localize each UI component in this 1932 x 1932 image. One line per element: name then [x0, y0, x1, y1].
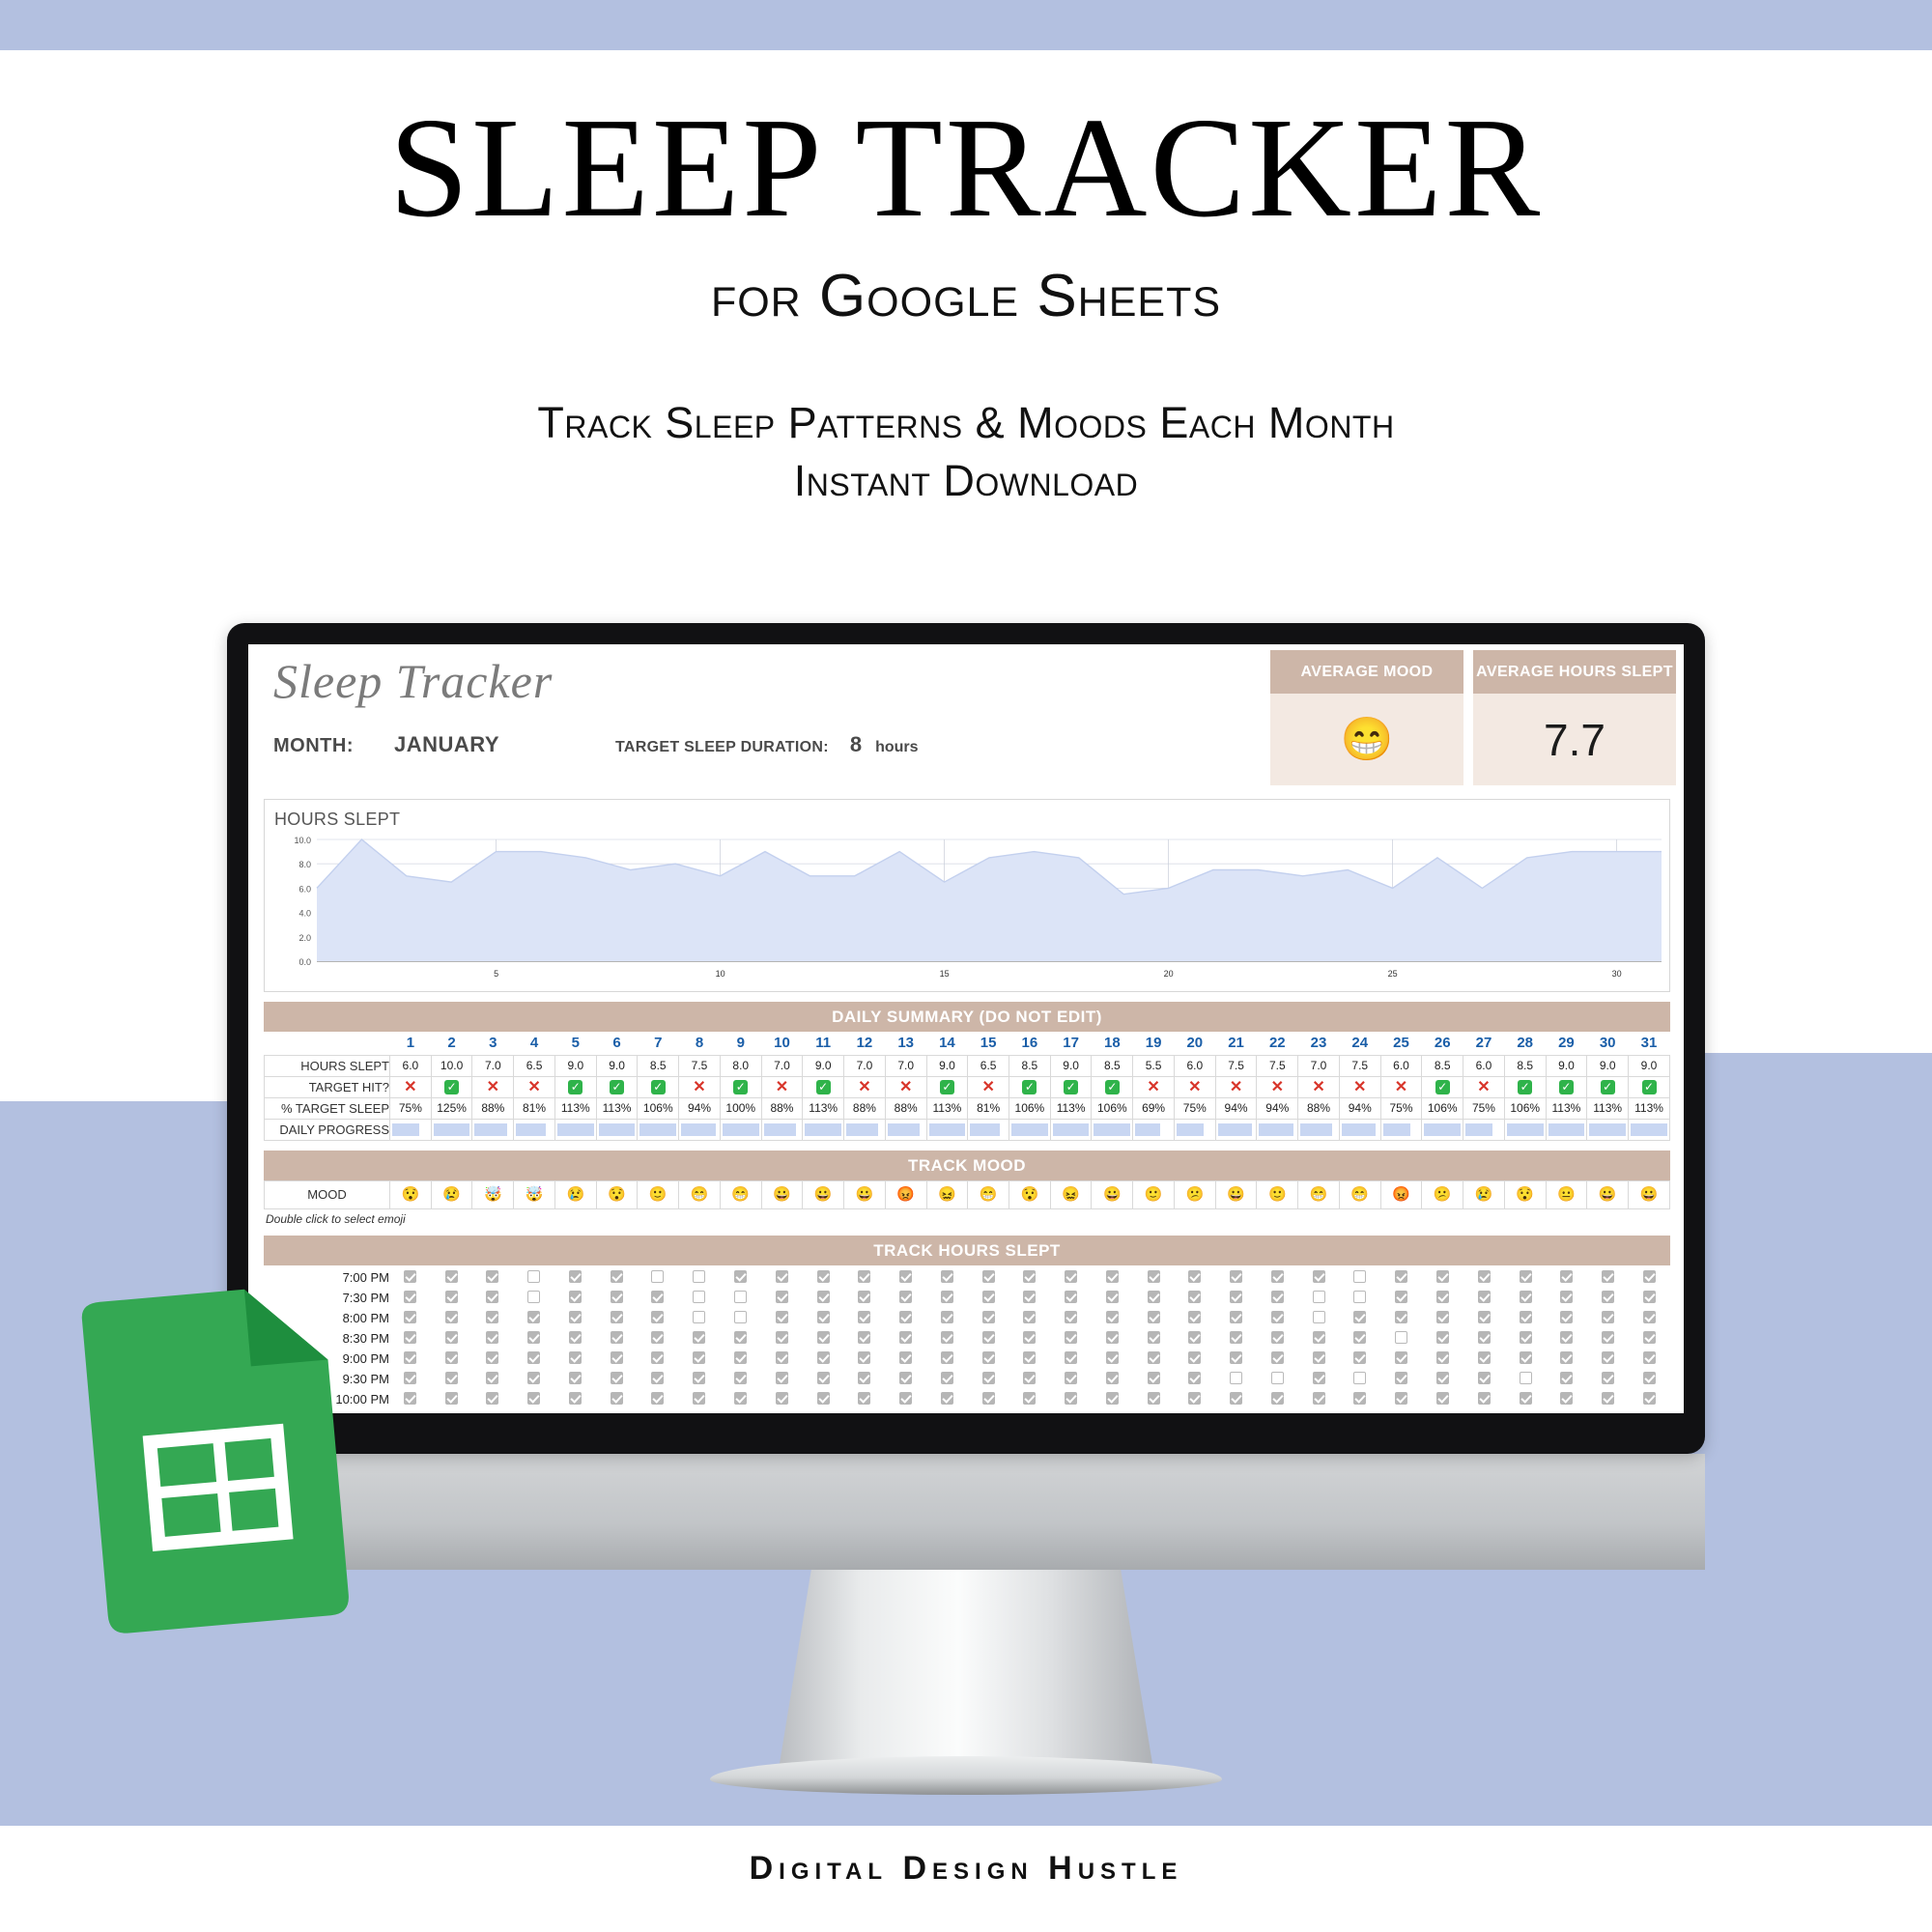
hours-cell[interactable]	[554, 1369, 596, 1389]
hours-cell[interactable]	[968, 1328, 1009, 1349]
hours-cell[interactable]	[1215, 1349, 1257, 1369]
checkbox-checked[interactable]	[1148, 1392, 1160, 1405]
hours-cell[interactable]	[720, 1267, 761, 1288]
mood-cell[interactable]: 🙂	[1257, 1180, 1298, 1208]
checkbox-unchecked[interactable]	[651, 1270, 664, 1283]
hours-cell[interactable]	[1546, 1267, 1587, 1288]
checkbox-checked[interactable]	[1560, 1291, 1573, 1303]
hours-cell[interactable]	[1050, 1328, 1092, 1349]
checkbox-unchecked[interactable]	[1520, 1372, 1532, 1384]
checkbox-checked[interactable]	[1313, 1331, 1325, 1344]
hours-cell[interactable]	[1215, 1267, 1257, 1288]
checkbox-unchecked[interactable]	[527, 1270, 540, 1283]
checkbox-checked[interactable]	[1106, 1311, 1119, 1323]
checkbox-checked[interactable]	[1478, 1392, 1491, 1405]
hours-cell[interactable]	[1133, 1308, 1175, 1328]
checkbox-checked[interactable]	[941, 1372, 953, 1384]
hours-cell[interactable]	[1340, 1369, 1381, 1389]
hours-cell[interactable]	[1340, 1328, 1381, 1349]
hours-cell[interactable]	[1380, 1328, 1422, 1349]
checkbox-checked[interactable]	[611, 1331, 623, 1344]
hours-cell[interactable]	[596, 1369, 638, 1389]
hours-cell[interactable]	[1505, 1267, 1547, 1288]
mood-cell[interactable]: 😯	[390, 1180, 432, 1208]
hours-cell[interactable]	[1380, 1349, 1422, 1369]
hours-cell[interactable]	[1422, 1328, 1463, 1349]
checkbox-checked[interactable]	[1148, 1270, 1160, 1283]
checkbox-checked[interactable]	[486, 1270, 498, 1283]
hours-cell[interactable]	[1587, 1349, 1629, 1369]
hours-cell[interactable]	[720, 1369, 761, 1389]
checkbox-checked[interactable]	[1271, 1351, 1284, 1364]
checkbox-checked[interactable]	[1560, 1331, 1573, 1344]
hours-cell[interactable]	[926, 1328, 968, 1349]
checkbox-checked[interactable]	[486, 1331, 498, 1344]
hours-cell[interactable]	[1175, 1267, 1216, 1288]
hours-cell[interactable]	[885, 1349, 926, 1369]
hours-cell[interactable]	[1587, 1369, 1629, 1389]
hours-cell[interactable]	[926, 1288, 968, 1308]
checkbox-checked[interactable]	[569, 1311, 582, 1323]
checkbox-checked[interactable]	[1560, 1372, 1573, 1384]
hours-cell[interactable]	[472, 1389, 514, 1409]
hours-cell[interactable]	[926, 1267, 968, 1288]
hours-cell[interactable]	[513, 1389, 554, 1409]
hours-cell[interactable]	[554, 1288, 596, 1308]
hours-cell[interactable]	[1422, 1349, 1463, 1369]
hours-cell[interactable]	[803, 1267, 844, 1288]
checkbox-checked[interactable]	[404, 1311, 416, 1323]
checkbox-checked[interactable]	[1560, 1270, 1573, 1283]
checkbox-checked[interactable]	[1602, 1351, 1614, 1364]
hours-cell[interactable]	[389, 1349, 431, 1369]
checkbox-unchecked[interactable]	[1230, 1372, 1242, 1384]
checkbox-checked[interactable]	[1395, 1372, 1407, 1384]
hours-cell[interactable]	[926, 1308, 968, 1328]
checkbox-checked[interactable]	[404, 1372, 416, 1384]
mood-cell[interactable]: 😡	[885, 1180, 926, 1208]
hours-cell[interactable]	[885, 1328, 926, 1349]
mood-cell[interactable]: 🙂	[638, 1180, 679, 1208]
hours-cell[interactable]	[803, 1328, 844, 1349]
checkbox-unchecked[interactable]	[1271, 1372, 1284, 1384]
hours-cell[interactable]	[885, 1369, 926, 1389]
checkbox-checked[interactable]	[776, 1270, 788, 1283]
hours-cell[interactable]	[431, 1267, 472, 1288]
hours-cell[interactable]	[1546, 1308, 1587, 1328]
hours-cell[interactable]	[885, 1389, 926, 1409]
hours-cell[interactable]	[1133, 1389, 1175, 1409]
checkbox-checked[interactable]	[1520, 1331, 1532, 1344]
checkbox-checked[interactable]	[1023, 1291, 1036, 1303]
checkbox-checked[interactable]	[817, 1311, 830, 1323]
hours-cell[interactable]	[1133, 1288, 1175, 1308]
hours-cell[interactable]	[803, 1389, 844, 1409]
checkbox-checked[interactable]	[1106, 1392, 1119, 1405]
hours-cell[interactable]	[1298, 1328, 1340, 1349]
checkbox-checked[interactable]	[1271, 1270, 1284, 1283]
mood-cell[interactable]: 😢	[1463, 1180, 1505, 1208]
checkbox-checked[interactable]	[1395, 1270, 1407, 1283]
checkbox-checked[interactable]	[1106, 1331, 1119, 1344]
checkbox-checked[interactable]	[817, 1291, 830, 1303]
checkbox-checked[interactable]	[651, 1331, 664, 1344]
hours-cell[interactable]	[1133, 1267, 1175, 1288]
checkbox-checked[interactable]	[1230, 1331, 1242, 1344]
checkbox-checked[interactable]	[611, 1351, 623, 1364]
checkbox-checked[interactable]	[1313, 1351, 1325, 1364]
hours-cell[interactable]	[1009, 1288, 1050, 1308]
hours-cell[interactable]	[1175, 1328, 1216, 1349]
checkbox-checked[interactable]	[1353, 1311, 1366, 1323]
hours-cell[interactable]	[1505, 1349, 1547, 1369]
hours-cell[interactable]	[1050, 1369, 1092, 1389]
checkbox-checked[interactable]	[982, 1270, 995, 1283]
checkbox-checked[interactable]	[1065, 1392, 1077, 1405]
checkbox-checked[interactable]	[1230, 1270, 1242, 1283]
hours-cell[interactable]	[761, 1389, 803, 1409]
hours-cell[interactable]	[1257, 1349, 1298, 1369]
hours-cell[interactable]	[389, 1288, 431, 1308]
hours-cell[interactable]	[389, 1267, 431, 1288]
hours-cell[interactable]	[1257, 1328, 1298, 1349]
checkbox-checked[interactable]	[1230, 1311, 1242, 1323]
hours-cell[interactable]	[1050, 1308, 1092, 1328]
checkbox-checked[interactable]	[404, 1291, 416, 1303]
checkbox-checked[interactable]	[1643, 1270, 1656, 1283]
checkbox-checked[interactable]	[693, 1392, 705, 1405]
hours-cell[interactable]	[1215, 1308, 1257, 1328]
hours-cell[interactable]	[513, 1288, 554, 1308]
hours-cell[interactable]	[389, 1328, 431, 1349]
hours-cell[interactable]	[1422, 1267, 1463, 1288]
checkbox-checked[interactable]	[611, 1392, 623, 1405]
hours-cell[interactable]	[1257, 1267, 1298, 1288]
hours-cell[interactable]	[1175, 1288, 1216, 1308]
checkbox-checked[interactable]	[1643, 1291, 1656, 1303]
hours-cell[interactable]	[389, 1369, 431, 1389]
checkbox-checked[interactable]	[982, 1351, 995, 1364]
checkbox-checked[interactable]	[1065, 1291, 1077, 1303]
hours-cell[interactable]	[638, 1308, 679, 1328]
checkbox-checked[interactable]	[1520, 1270, 1532, 1283]
checkbox-checked[interactable]	[941, 1311, 953, 1323]
mood-cell[interactable]: 😀	[803, 1180, 844, 1208]
hours-cell[interactable]	[1298, 1288, 1340, 1308]
hours-cell[interactable]	[1092, 1288, 1133, 1308]
checkbox-checked[interactable]	[1643, 1331, 1656, 1344]
checkbox-checked[interactable]	[982, 1331, 995, 1344]
hours-cell[interactable]	[843, 1288, 885, 1308]
hours-cell[interactable]	[1340, 1389, 1381, 1409]
checkbox-checked[interactable]	[1023, 1270, 1036, 1283]
checkbox-checked[interactable]	[1478, 1372, 1491, 1384]
checkbox-checked[interactable]	[486, 1392, 498, 1405]
checkbox-checked[interactable]	[982, 1372, 995, 1384]
checkbox-checked[interactable]	[1520, 1351, 1532, 1364]
checkbox-unchecked[interactable]	[1313, 1311, 1325, 1323]
checkbox-checked[interactable]	[1478, 1351, 1491, 1364]
hours-cell[interactable]	[843, 1308, 885, 1328]
checkbox-checked[interactable]	[982, 1291, 995, 1303]
hours-cell[interactable]	[638, 1389, 679, 1409]
hours-cell[interactable]	[1298, 1349, 1340, 1369]
hours-cell[interactable]	[968, 1389, 1009, 1409]
hours-cell[interactable]	[513, 1349, 554, 1369]
hours-cell[interactable]	[1629, 1389, 1670, 1409]
hours-cell[interactable]	[513, 1328, 554, 1349]
checkbox-checked[interactable]	[776, 1331, 788, 1344]
hours-cell[interactable]	[513, 1369, 554, 1389]
hours-cell[interactable]	[431, 1389, 472, 1409]
hours-cell[interactable]	[1215, 1369, 1257, 1389]
checkbox-checked[interactable]	[1560, 1311, 1573, 1323]
month-value[interactable]: JANUARY	[394, 732, 499, 757]
checkbox-checked[interactable]	[1188, 1372, 1201, 1384]
hours-cell[interactable]	[678, 1349, 720, 1369]
hours-cell[interactable]	[1546, 1389, 1587, 1409]
checkbox-checked[interactable]	[486, 1291, 498, 1303]
checkbox-checked[interactable]	[1065, 1331, 1077, 1344]
checkbox-checked[interactable]	[1023, 1311, 1036, 1323]
hours-cell[interactable]	[1215, 1389, 1257, 1409]
checkbox-checked[interactable]	[776, 1351, 788, 1364]
hours-cell[interactable]	[472, 1349, 514, 1369]
checkbox-checked[interactable]	[1230, 1351, 1242, 1364]
mood-cell[interactable]: 😁	[679, 1180, 721, 1208]
checkbox-checked[interactable]	[1520, 1392, 1532, 1405]
checkbox-checked[interactable]	[445, 1291, 458, 1303]
checkbox-checked[interactable]	[1643, 1372, 1656, 1384]
mood-cell[interactable]: 😢	[554, 1180, 596, 1208]
hours-cell[interactable]	[926, 1349, 968, 1369]
checkbox-checked[interactable]	[486, 1311, 498, 1323]
hours-cell[interactable]	[1298, 1267, 1340, 1288]
hours-cell[interactable]	[1587, 1389, 1629, 1409]
hours-cell[interactable]	[803, 1349, 844, 1369]
checkbox-checked[interactable]	[817, 1270, 830, 1283]
checkbox-checked[interactable]	[1188, 1392, 1201, 1405]
hours-cell[interactable]	[1092, 1349, 1133, 1369]
hours-cell[interactable]	[1587, 1288, 1629, 1308]
hours-cell[interactable]	[1215, 1288, 1257, 1308]
hours-cell[interactable]	[678, 1267, 720, 1288]
checkbox-checked[interactable]	[1395, 1392, 1407, 1405]
checkbox-checked[interactable]	[651, 1372, 664, 1384]
hours-cell[interactable]	[1009, 1328, 1050, 1349]
checkbox-checked[interactable]	[1602, 1291, 1614, 1303]
hours-cell[interactable]	[968, 1308, 1009, 1328]
checkbox-checked[interactable]	[693, 1351, 705, 1364]
checkbox-checked[interactable]	[569, 1372, 582, 1384]
checkbox-checked[interactable]	[445, 1270, 458, 1283]
hours-cell[interactable]	[1463, 1308, 1505, 1328]
hours-cell[interactable]	[1050, 1389, 1092, 1409]
checkbox-checked[interactable]	[1271, 1311, 1284, 1323]
checkbox-checked[interactable]	[404, 1351, 416, 1364]
checkbox-checked[interactable]	[1313, 1372, 1325, 1384]
mood-cell[interactable]: 😕	[1422, 1180, 1463, 1208]
checkbox-checked[interactable]	[651, 1351, 664, 1364]
hours-cell[interactable]	[1629, 1349, 1670, 1369]
checkbox-checked[interactable]	[1188, 1331, 1201, 1344]
mood-cell[interactable]: 😐	[1546, 1180, 1587, 1208]
hours-cell[interactable]	[968, 1369, 1009, 1389]
hours-cell[interactable]	[678, 1328, 720, 1349]
checkbox-checked[interactable]	[941, 1270, 953, 1283]
checkbox-checked[interactable]	[1395, 1311, 1407, 1323]
checkbox-checked[interactable]	[527, 1311, 540, 1323]
hours-cell[interactable]	[885, 1267, 926, 1288]
checkbox-checked[interactable]	[817, 1372, 830, 1384]
hours-cell[interactable]	[843, 1389, 885, 1409]
hours-cell[interactable]	[1629, 1267, 1670, 1288]
mood-cell[interactable]: 😢	[431, 1180, 472, 1208]
checkbox-checked[interactable]	[1478, 1311, 1491, 1323]
checkbox-checked[interactable]	[776, 1291, 788, 1303]
hours-cell[interactable]	[1546, 1328, 1587, 1349]
hours-cell[interactable]	[1009, 1267, 1050, 1288]
checkbox-checked[interactable]	[858, 1291, 870, 1303]
hours-cell[interactable]	[720, 1328, 761, 1349]
checkbox-checked[interactable]	[1478, 1270, 1491, 1283]
hours-cell[interactable]	[389, 1389, 431, 1409]
target-sleep-value[interactable]: 8	[850, 732, 862, 757]
checkbox-checked[interactable]	[611, 1311, 623, 1323]
mood-cell[interactable]: 🤯	[472, 1180, 514, 1208]
checkbox-checked[interactable]	[527, 1331, 540, 1344]
checkbox-checked[interactable]	[1271, 1331, 1284, 1344]
mood-cell[interactable]: 😁	[968, 1180, 1009, 1208]
mood-cell[interactable]: 🤯	[514, 1180, 555, 1208]
checkbox-checked[interactable]	[651, 1392, 664, 1405]
mood-cell[interactable]: 😖	[926, 1180, 968, 1208]
hours-cell[interactable]	[431, 1288, 472, 1308]
checkbox-checked[interactable]	[1478, 1291, 1491, 1303]
checkbox-checked[interactable]	[445, 1392, 458, 1405]
hours-cell[interactable]	[554, 1328, 596, 1349]
mood-cell[interactable]: 😀	[1629, 1180, 1670, 1208]
hours-cell[interactable]	[720, 1308, 761, 1328]
checkbox-checked[interactable]	[1065, 1372, 1077, 1384]
checkbox-checked[interactable]	[899, 1351, 912, 1364]
mood-cell[interactable]: 😀	[1092, 1180, 1133, 1208]
checkbox-checked[interactable]	[693, 1372, 705, 1384]
hours-cell[interactable]	[1380, 1288, 1422, 1308]
hours-cell[interactable]	[1009, 1308, 1050, 1328]
checkbox-checked[interactable]	[569, 1331, 582, 1344]
checkbox-checked[interactable]	[858, 1311, 870, 1323]
hours-cell[interactable]	[761, 1288, 803, 1308]
checkbox-checked[interactable]	[899, 1291, 912, 1303]
hours-cell[interactable]	[1215, 1328, 1257, 1349]
hours-cell[interactable]	[678, 1288, 720, 1308]
checkbox-unchecked[interactable]	[527, 1291, 540, 1303]
checkbox-checked[interactable]	[982, 1392, 995, 1405]
checkbox-checked[interactable]	[1602, 1331, 1614, 1344]
checkbox-checked[interactable]	[1643, 1392, 1656, 1405]
hours-cell[interactable]	[472, 1308, 514, 1328]
hours-cell[interactable]	[1463, 1328, 1505, 1349]
hours-cell[interactable]	[1546, 1369, 1587, 1389]
checkbox-checked[interactable]	[569, 1270, 582, 1283]
checkbox-checked[interactable]	[569, 1291, 582, 1303]
hours-cell[interactable]	[1422, 1369, 1463, 1389]
checkbox-checked[interactable]	[1023, 1392, 1036, 1405]
checkbox-checked[interactable]	[1106, 1270, 1119, 1283]
checkbox-checked[interactable]	[1148, 1372, 1160, 1384]
checkbox-checked[interactable]	[1436, 1270, 1449, 1283]
checkbox-checked[interactable]	[651, 1291, 664, 1303]
hours-cell[interactable]	[761, 1308, 803, 1328]
mood-cell[interactable]: 😯	[1504, 1180, 1546, 1208]
hours-cell[interactable]	[1505, 1369, 1547, 1389]
hours-cell[interactable]	[513, 1308, 554, 1328]
hours-cell[interactable]	[554, 1308, 596, 1328]
checkbox-checked[interactable]	[404, 1331, 416, 1344]
hours-cell[interactable]	[1092, 1369, 1133, 1389]
hours-cell[interactable]	[1009, 1389, 1050, 1409]
hours-cell[interactable]	[843, 1328, 885, 1349]
hours-cell[interactable]	[1133, 1369, 1175, 1389]
checkbox-unchecked[interactable]	[1395, 1331, 1407, 1344]
hours-cell[interactable]	[1092, 1389, 1133, 1409]
checkbox-checked[interactable]	[1148, 1311, 1160, 1323]
hours-cell[interactable]	[1092, 1267, 1133, 1288]
checkbox-checked[interactable]	[1560, 1392, 1573, 1405]
hours-cell[interactable]	[1298, 1369, 1340, 1389]
checkbox-checked[interactable]	[445, 1372, 458, 1384]
checkbox-checked[interactable]	[1148, 1291, 1160, 1303]
checkbox-unchecked[interactable]	[1353, 1270, 1366, 1283]
checkbox-checked[interactable]	[1188, 1311, 1201, 1323]
hours-cell[interactable]	[761, 1349, 803, 1369]
hours-cell[interactable]	[1340, 1308, 1381, 1328]
hours-cell[interactable]	[472, 1328, 514, 1349]
checkbox-checked[interactable]	[941, 1351, 953, 1364]
checkbox-checked[interactable]	[1643, 1351, 1656, 1364]
hours-cell[interactable]	[1380, 1389, 1422, 1409]
hours-cell[interactable]	[596, 1389, 638, 1409]
hours-cell[interactable]	[1050, 1288, 1092, 1308]
checkbox-checked[interactable]	[941, 1291, 953, 1303]
hours-cell[interactable]	[638, 1349, 679, 1369]
hours-cell[interactable]	[638, 1288, 679, 1308]
checkbox-checked[interactable]	[1313, 1392, 1325, 1405]
hours-cell[interactable]	[678, 1308, 720, 1328]
hours-cell[interactable]	[1463, 1369, 1505, 1389]
checkbox-checked[interactable]	[941, 1392, 953, 1405]
checkbox-checked[interactable]	[1436, 1392, 1449, 1405]
hours-cell[interactable]	[513, 1267, 554, 1288]
checkbox-checked[interactable]	[734, 1392, 747, 1405]
hours-cell[interactable]	[885, 1288, 926, 1308]
mood-cell[interactable]: 😁	[1298, 1180, 1340, 1208]
checkbox-checked[interactable]	[982, 1311, 995, 1323]
checkbox-checked[interactable]	[1230, 1291, 1242, 1303]
checkbox-checked[interactable]	[445, 1351, 458, 1364]
checkbox-checked[interactable]	[611, 1372, 623, 1384]
hours-cell[interactable]	[678, 1369, 720, 1389]
checkbox-checked[interactable]	[404, 1270, 416, 1283]
hours-cell[interactable]	[638, 1267, 679, 1288]
hours-cell[interactable]	[1298, 1389, 1340, 1409]
hours-cell[interactable]	[761, 1369, 803, 1389]
hours-cell[interactable]	[431, 1308, 472, 1328]
hours-cell[interactable]	[1133, 1328, 1175, 1349]
checkbox-checked[interactable]	[858, 1351, 870, 1364]
checkbox-checked[interactable]	[734, 1372, 747, 1384]
